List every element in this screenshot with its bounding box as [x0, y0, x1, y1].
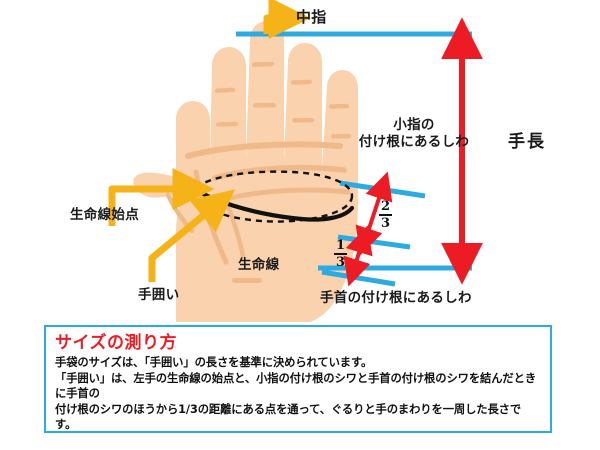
diagram-graphics [0, 0, 600, 322]
label-pinky-base-wrinkle-line1: 小指の [334, 117, 494, 134]
hand-measurement-diagram: 中指 手長 小指の 付け根にあるしわ 手首の付け根にあるしわ 生命線始点 手囲い… [0, 0, 600, 322]
label-lifeline: 生命線 [238, 253, 279, 273]
label-hand-length: 手長 [508, 127, 546, 152]
fraction-two-thirds-denominator: 3 [379, 216, 392, 230]
label-lifeline-start: 生命線始点 [70, 203, 139, 223]
label-pinky-base-wrinkle-line2: 付け根にあるしわ [334, 134, 494, 151]
info-box-line-2: 「手囲い」は、左手の生命線の始点と、小指の付け根のシワと手首の付け根のシワを結ん… [55, 371, 541, 402]
label-middle-finger: 中指 [296, 6, 327, 27]
diagram-page: 中指 手長 小指の 付け根にあるしわ 手首の付け根にあるしわ 生命線始点 手囲い… [0, 0, 600, 450]
fraction-one-third: 1 3 [334, 239, 347, 269]
fraction-two-thirds-numerator: 2 [379, 200, 392, 214]
label-pinky-base-wrinkle: 小指の 付け根にあるしわ [334, 117, 494, 151]
hand-illustration [133, 21, 358, 322]
info-box-line-1: 手袋のサイズは、「手囲い」の長さを基準に決められています。 [55, 355, 541, 371]
info-box-line-3: 付け根のシワのほうから1/3の距離にある点を通って、ぐるりと手のまわりを一周した… [55, 402, 541, 433]
label-wrist-base-wrinkle: 手首の付け根にあるしわ [320, 286, 472, 306]
label-hand-circumference: 手囲い [138, 283, 179, 303]
info-box-title: サイズの測り方 [55, 333, 541, 353]
fraction-one-third-denominator: 3 [334, 255, 347, 269]
fraction-two-thirds: 2 3 [379, 200, 392, 230]
fraction-one-third-numerator: 1 [334, 239, 347, 253]
size-measurement-info-box: サイズの測り方 手袋のサイズは、「手囲い」の長さを基準に決められています。 「手… [44, 325, 552, 433]
